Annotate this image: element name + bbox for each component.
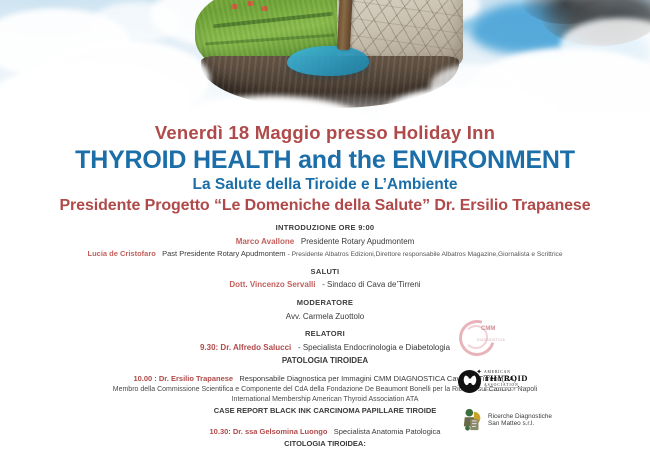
speaker-name: Lucia de Cristofaro <box>88 249 156 258</box>
ata-line-4: ATA | Founded 1923 <box>484 387 528 392</box>
intro-speaker-row: Marco Avallone Presidente Rotary Apudmon… <box>0 237 650 246</box>
livestock-dot <box>231 4 238 9</box>
san-matteo-line-2: San Matteo s.r.l. <box>488 420 552 427</box>
section-heading-introduzione: INTRODUZIONE ORE 9:00 <box>0 224 650 233</box>
star-icon: ✦ <box>476 369 482 376</box>
intro-speaker-row-2: Lucia de Cristofaro Past Presidente Rota… <box>0 250 650 259</box>
ata-emblem-icon: ✦ <box>458 370 481 393</box>
water-pool <box>287 46 369 76</box>
cmm-logo-subtext: DIAGNOSTICA <box>477 338 505 342</box>
field-hedge <box>205 33 335 45</box>
poster-content: Venerdì 18 Maggio presso Holiday Inn THY… <box>0 120 650 450</box>
livestock-dot <box>261 6 268 11</box>
san-matteo-logo: Ricerche Diagnostiche San Matteo s.r.l. <box>462 406 612 434</box>
talk-speaker-row: 9.30: Dr. Alfredo Salucci - Specialista … <box>0 343 650 352</box>
san-matteo-emblem-icon <box>462 408 484 432</box>
saluti-speaker-row: Dott. Vincenzo Servalli - Sindaco di Cav… <box>0 280 650 289</box>
san-matteo-wordmark: Ricerche Diagnostiche San Matteo s.r.l. <box>488 413 552 428</box>
speaker-role: - Specialista Endocrinologia e Diabetolo… <box>298 343 450 352</box>
talk-topic: PATOLOGIA TIROIDEA <box>0 356 650 365</box>
event-date-venue: Venerdì 18 Maggio presso Holiday Inn <box>0 122 650 144</box>
speaker-role: - Sindaco di Cava de’Tirreni <box>322 280 420 289</box>
american-thyroid-association-logo: ✦ AMERICAN THYROID ASSOCIATION ATA | Fou… <box>458 367 570 395</box>
page-subtitle: La Salute della Tiroide e L’Ambiente <box>0 176 650 194</box>
page-title: THYROID HEALTH and the ENVIRONMENT <box>0 146 650 176</box>
scholar-figure-icon <box>462 408 484 432</box>
moderatore-name: Avv. Carmela Zuottolo <box>0 312 650 321</box>
hero-image <box>0 0 650 132</box>
san-matteo-line-1: Ricerche Diagnostiche <box>488 413 552 420</box>
speaker-role: Presidente Rotary Apudmontem <box>301 237 414 246</box>
section-heading-saluti: SALUTI <box>0 268 650 277</box>
livestock-dot <box>247 1 254 6</box>
section-heading-relatori: RELATORI <box>0 330 650 339</box>
speaker-name: Dott. Vincenzo Servalli <box>229 280 315 289</box>
speaker-name: Marco Avallone <box>236 237 295 246</box>
event-poster: Venerdì 18 Maggio presso Holiday Inn THY… <box>0 0 650 450</box>
cmm-logo-text: CMM <box>481 326 495 332</box>
field-hedge <box>213 12 333 29</box>
speaker-detail: - Presidente Albatros Edizioni,Direttore… <box>288 251 563 258</box>
speaker-role: Specialista Anatomia Patologica <box>334 427 441 436</box>
speaker-name: 10.30: Dr. ssa Gelsomina Luongo <box>210 427 328 436</box>
ata-wordmark: AMERICAN THYROID ASSOCIATION ATA | Found… <box>484 370 528 392</box>
speaker-role: Past Presidente Rotary Apudmontem <box>162 249 285 258</box>
talk-topic: CITOLOGIA TIROIDEA: <box>0 440 650 449</box>
project-president-line: Presidente Progetto “Le Domeniche della … <box>0 197 650 216</box>
ata-line-2: THYROID <box>484 374 528 383</box>
section-heading-moderatore: MODERATORE <box>0 299 650 308</box>
speaker-name: 9.30: Dr. Alfredo Salucci <box>200 343 291 352</box>
talk-entry: 9.30: Dr. Alfredo Salucci - Specialista … <box>0 343 650 366</box>
talk-detail: International Membership American Thyroi… <box>0 396 650 404</box>
thyroid-butterfly-icon <box>462 374 477 388</box>
cmm-diagnostica-logo: CMM DIAGNOSTICA <box>455 318 511 358</box>
speaker-name: 10.00 : Dr. Ersilio Trapanese <box>133 374 233 383</box>
